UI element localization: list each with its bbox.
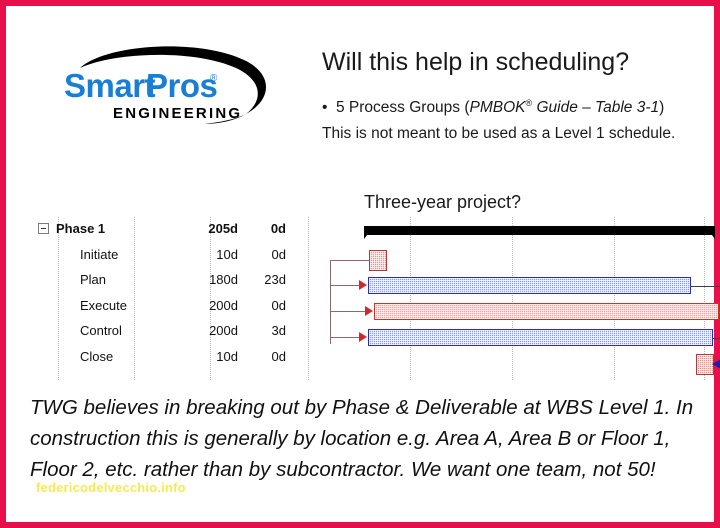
dependency-link [330,260,369,261]
summary-bar-right-cap-icon [705,226,715,239]
table-row[interactable]: Initiate 10d 0d [28,244,306,269]
table-row[interactable]: Execute 200d 0d [28,295,306,320]
dependency-arrow-icon [712,359,720,369]
task-name: Control [80,323,122,338]
task-duration: 200d [178,298,238,313]
task-duration: 200d [178,323,238,338]
svg-text:Smart: Smart [64,67,156,104]
table-row[interactable]: Phase 1 205d 0d [28,218,306,243]
bullet-text-guide: Guide – Table 3-1 [532,99,659,116]
gantt-title: Three-year project? [364,192,521,213]
svg-text:ENGINEERING: ENGINEERING [113,105,242,122]
table-row[interactable]: Control 200d 3d [28,320,306,345]
dependency-link [713,338,720,339]
logo-artwork: Smart Pros ® ENGINEERING [58,42,283,126]
gridline [308,217,309,380]
task-bar-initiate[interactable] [369,250,387,271]
bullet-glyph: • [322,99,336,117]
dependency-link [691,286,720,287]
task-bar-control[interactable] [368,329,713,346]
dependency-link [330,260,331,344]
task-bar-plan[interactable] [368,277,691,294]
dependency-link [330,311,366,312]
bullet-process-groups: •5 Process Groups (PMBOK® Guide – Table … [322,98,720,117]
task-table: Phase 1 205d 0d Initiate 10d 0d Plan 180… [28,218,306,380]
dependency-arrow-icon [359,332,367,342]
subtitle-note: This is not meant to be used as a Level … [322,125,720,143]
bullet-text-suffix: ) [659,99,664,116]
task-name: Initiate [80,247,118,262]
task-name: Phase 1 [56,221,105,236]
dependency-link [330,337,360,338]
task-duration: 180d [178,272,238,287]
task-name: Plan [80,272,106,287]
table-row[interactable]: Plan 180d 23d [28,269,306,294]
smartpros-logo: Smart Pros ® ENGINEERING [58,42,283,126]
task-slack: 0d [242,247,286,262]
task-bar-execute[interactable] [374,303,719,320]
summary-bar-left-cap-icon [364,226,374,239]
task-name: Execute [80,298,127,313]
task-duration: 10d [178,349,238,364]
summary-bar-phase-1[interactable] [364,226,715,235]
task-slack: 3d [242,323,286,338]
table-row[interactable]: Close 10d 0d [28,346,306,371]
bullet-text-pmbok: PMBOK [470,99,526,116]
task-duration: 205d [178,221,238,236]
task-name: Close [80,349,113,364]
task-slack: 0d [242,298,286,313]
dependency-link [330,285,360,286]
body-paragraph: TWG believes in breaking out by Phase & … [30,392,706,485]
task-slack: 0d [242,349,286,364]
watermark-text: federicodelvecchio.info [36,480,186,495]
svg-text:®: ® [210,73,218,84]
task-slack: 0d [242,221,286,236]
gantt-bars-area [312,218,716,380]
dependency-arrow-icon [359,280,367,290]
bullet-text-prefix: 5 Process Groups ( [336,99,470,116]
page-title: Will this help in scheduling? [322,48,720,77]
task-slack: 23d [242,272,286,287]
dependency-arrow-icon [365,306,373,316]
slide-canvas: Smart Pros ® ENGINEERING Will this help … [0,0,720,528]
task-duration: 10d [178,247,238,262]
collapse-expander-icon[interactable] [38,223,49,234]
svg-text:Pros: Pros [146,67,217,104]
gantt-chart: Three-year project? Phase 1 205d 0d Init… [12,188,720,384]
